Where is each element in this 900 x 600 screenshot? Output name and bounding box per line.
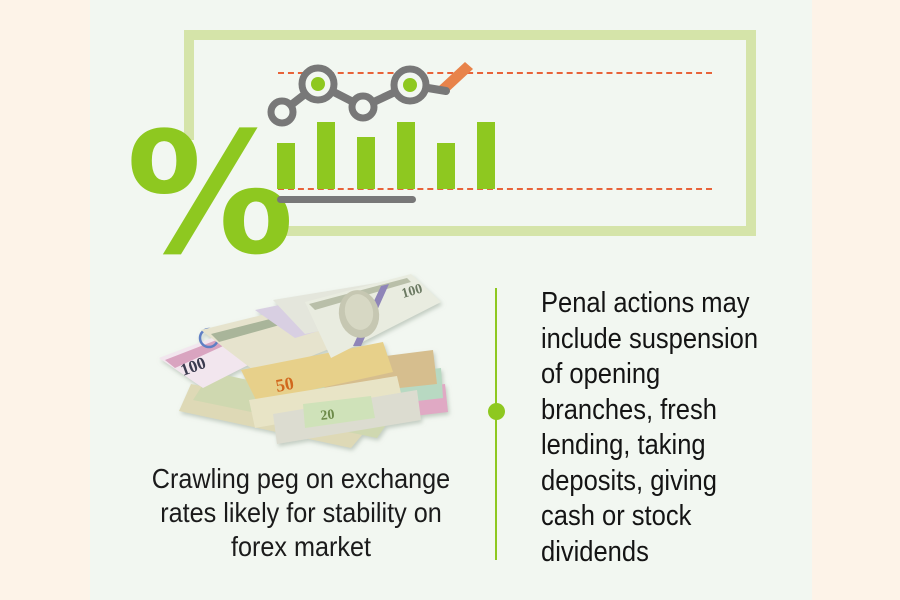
bar-3 [357, 137, 375, 189]
left-background-band [0, 0, 90, 600]
bar-1 [277, 143, 295, 189]
left-caption-text: Crawling peg on exchange rates likely fo… [138, 462, 464, 564]
trend-line-svg [260, 50, 490, 130]
percent-symbol-icon: % [126, 104, 266, 284]
bar-2 [317, 122, 335, 189]
right-background-band [812, 0, 900, 600]
data-marker-large-2-fill [311, 77, 325, 91]
bar-5 [437, 143, 455, 189]
divider-dot-marker [488, 403, 505, 420]
data-marker-large-4-fill [403, 78, 417, 92]
infographic-canvas: % [0, 0, 900, 600]
data-marker-small-3 [352, 96, 374, 118]
right-caption-text: Penal actions may include suspension of … [541, 286, 763, 570]
banknotes-illustration: 100 50 100 [145, 272, 455, 462]
gold-50-label: 50 [274, 373, 295, 396]
note-20-label: 20 [320, 407, 336, 424]
banknote-stack: 100 50 100 [159, 274, 448, 448]
bar-4 [397, 122, 415, 189]
chart-axis-bar [277, 196, 416, 203]
bar-6 [477, 122, 495, 189]
trend-line-chart [260, 50, 490, 130]
data-marker-small-1 [271, 101, 293, 123]
vertical-divider-line [495, 288, 497, 560]
banknotes-photo: 100 50 100 [145, 272, 455, 462]
